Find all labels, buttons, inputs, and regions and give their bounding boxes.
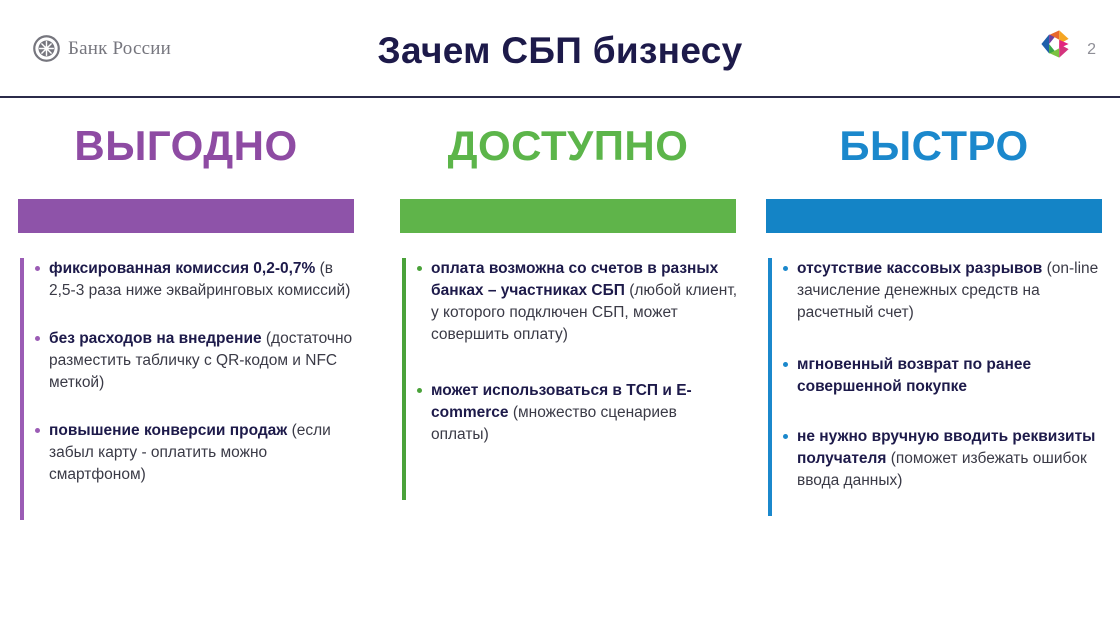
bullet-dot-icon xyxy=(417,388,422,393)
list-item: повышение конверсии продаж (если забыл к… xyxy=(30,420,356,486)
list-item: может использоваться в ТСП и E-commerce … xyxy=(412,380,738,446)
bullet-bold-text: повышение конверсии продаж xyxy=(49,422,287,439)
page-number: 2 xyxy=(1087,41,1096,59)
bullet-dot-icon xyxy=(783,362,788,367)
bullet-bold-text: мгновенный возврат по ранее совершенной … xyxy=(797,356,1031,395)
column-body: отсутствие кассовых разрывов (on-line за… xyxy=(764,258,1104,492)
bullet-bold-text: фиксированная комиссия 0,2-0,7% xyxy=(49,260,315,277)
bullet-dot-icon xyxy=(35,266,40,271)
benefit-list: фиксированная комиссия 0,2-0,7% (в 2,5-3… xyxy=(30,258,356,486)
bullet-dot-icon xyxy=(35,336,40,341)
bullet-dot-icon xyxy=(783,266,788,271)
column-color-bar xyxy=(766,199,1102,233)
column-color-bar xyxy=(400,199,736,233)
column-color-bar xyxy=(18,199,354,233)
page-title: Зачем СБП бизнесу xyxy=(0,30,1120,72)
benefit-column-bystro: БЫСТРО отсутствие кассовых разрывов (on-… xyxy=(764,98,1104,617)
list-item: отсутствие кассовых разрывов (on-line за… xyxy=(778,258,1104,324)
benefits-columns: ВЫГОДНО фиксированная комиссия 0,2-0,7% … xyxy=(0,98,1120,617)
column-heading: ВЫГОДНО xyxy=(16,125,356,167)
bullet-dot-icon xyxy=(417,266,422,271)
column-accent-line xyxy=(768,258,772,516)
list-item: мгновенный возврат по ранее совершенной … xyxy=(778,354,1104,398)
list-item: фиксированная комиссия 0,2-0,7% (в 2,5-3… xyxy=(30,258,356,302)
bullet-dot-icon xyxy=(783,434,788,439)
slide-header: Банк России Зачем СБП бизнесу 2 xyxy=(0,0,1120,98)
benefit-list: оплата возможна со счетов в разных банка… xyxy=(412,258,738,446)
bullet-bold-text: без расходов на внедрение xyxy=(49,330,262,347)
bullet-dot-icon xyxy=(35,428,40,433)
bullet-bold-text: отсутствие кассовых разрывов xyxy=(797,260,1042,277)
benefit-column-dostupno: ДОСТУПНО оплата возможна со счетов в раз… xyxy=(398,98,738,617)
benefit-list: отсутствие кассовых разрывов (on-line за… xyxy=(778,258,1104,492)
column-body: оплата возможна со счетов в разных банка… xyxy=(398,258,738,446)
benefit-column-vygodno: ВЫГОДНО фиксированная комиссия 0,2-0,7% … xyxy=(16,98,356,617)
list-item: оплата возможна со счетов в разных банка… xyxy=(412,258,738,346)
column-heading: БЫСТРО xyxy=(764,125,1104,167)
column-accent-line xyxy=(20,258,24,520)
list-item: не нужно вручную вводить реквизиты получ… xyxy=(778,426,1104,492)
column-accent-line xyxy=(402,258,406,500)
list-item: без расходов на внедрение (достаточно ра… xyxy=(30,328,356,394)
column-heading: ДОСТУПНО xyxy=(398,125,738,167)
column-body: фиксированная комиссия 0,2-0,7% (в 2,5-3… xyxy=(16,258,356,486)
sbp-logo-icon xyxy=(1038,27,1072,61)
